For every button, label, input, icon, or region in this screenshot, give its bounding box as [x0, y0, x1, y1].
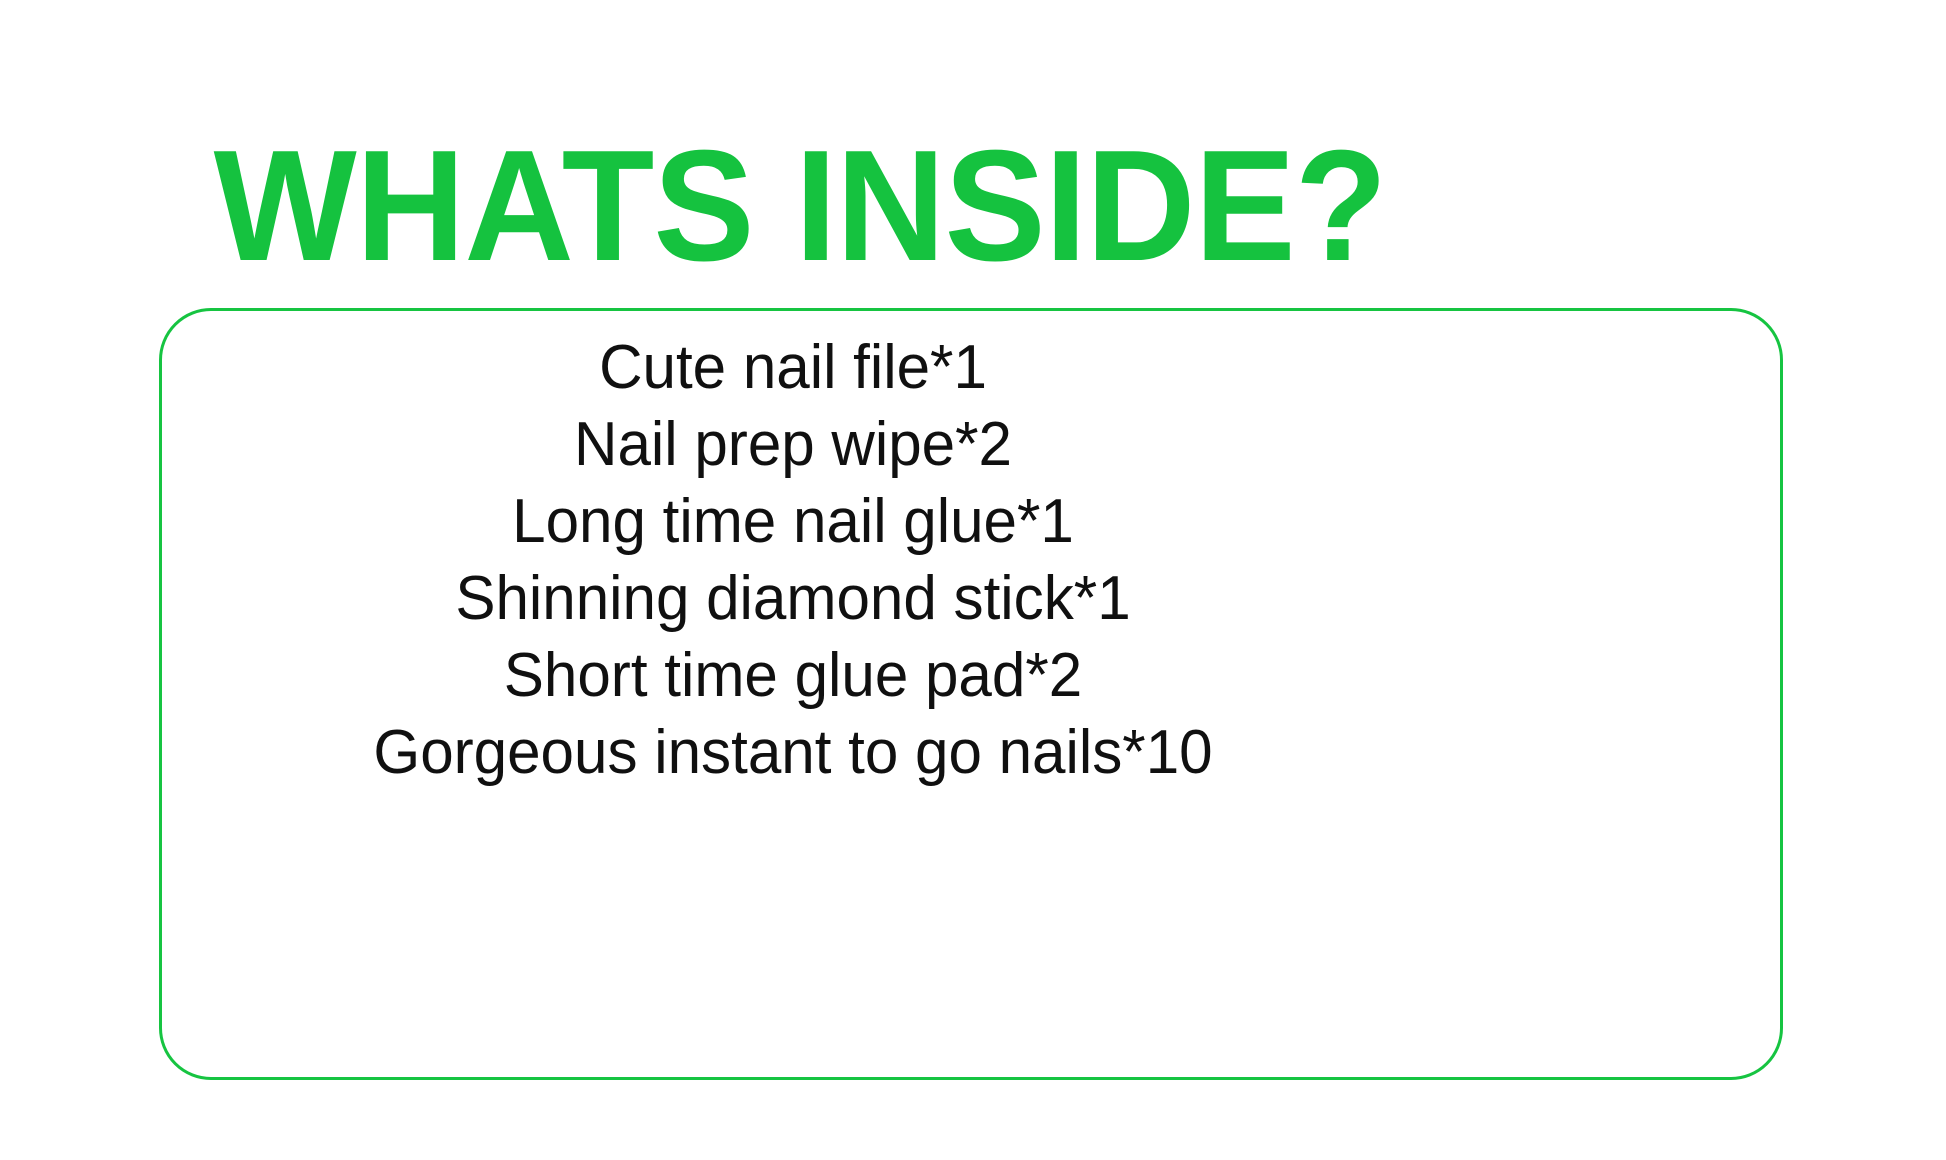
- page-title: WHATS INSIDE?: [32, 124, 1568, 290]
- list-item: Nail prep wipe*2: [181, 406, 1405, 483]
- contents-list: Cute nail file*1 Nail prep wipe*2 Long t…: [162, 329, 1424, 791]
- list-item: Short time glue pad*2: [181, 637, 1405, 714]
- list-item: Gorgeous instant to go nails*10: [181, 714, 1405, 791]
- whats-inside-panel: WHATS INSIDE? Cute nail file*1 Nail prep…: [0, 0, 1946, 1160]
- list-item: Shinning diamond stick*1: [181, 560, 1405, 637]
- list-item: Cute nail file*1: [181, 329, 1405, 406]
- contents-card: Cute nail file*1 Nail prep wipe*2 Long t…: [159, 308, 1783, 1080]
- list-item: Long time nail glue*1: [181, 483, 1405, 560]
